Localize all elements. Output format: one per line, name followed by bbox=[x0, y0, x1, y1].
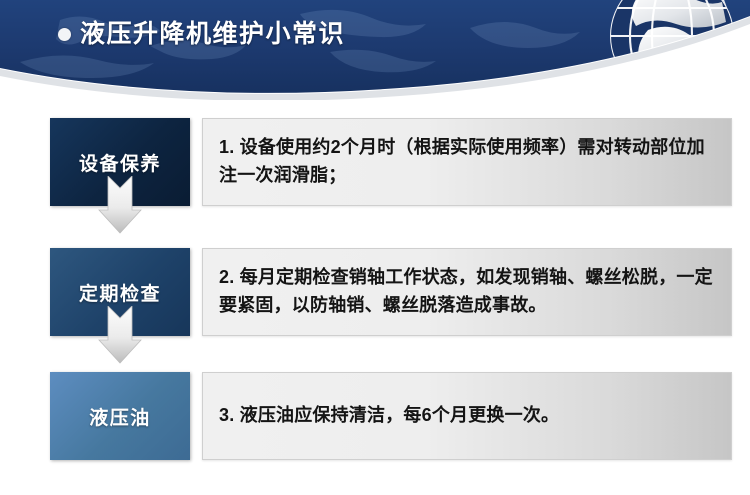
step-text-panel-3: 3. 液压油应保持清洁，每6个月更换一次。 bbox=[202, 372, 732, 460]
step-label-text-3: 液压油 bbox=[89, 403, 151, 430]
page-title: 液压升降机维护小常识 bbox=[58, 22, 345, 47]
step-text-1: 1. 设备使用约2个月时（根据实际使用频率）需对转动部位加注一次润滑脂； bbox=[219, 134, 717, 190]
header-background bbox=[0, 0, 750, 100]
step-text-2: 2. 每月定期检查销轴工作状态，如发现销轴、螺丝松脱，一定要紧固，以防轴销、螺丝… bbox=[219, 264, 717, 320]
step-label-text-1: 设备保养 bbox=[79, 149, 161, 176]
step-text-panel-1: 1. 设备使用约2个月时（根据实际使用频率）需对转动部位加注一次润滑脂； bbox=[202, 118, 732, 206]
step-label-box-3[interactable]: 液压油 bbox=[50, 372, 190, 460]
step-text-panel-2: 2. 每月定期检查销轴工作状态，如发现销轴、螺丝松脱，一定要紧固，以防轴销、螺丝… bbox=[202, 248, 732, 336]
step-text-3: 3. 液压油应保持清洁，每6个月更换一次。 bbox=[219, 402, 559, 430]
down-arrow-icon bbox=[98, 176, 142, 234]
page-title-text: 液压升降机维护小常识 bbox=[80, 22, 345, 47]
step-label-text-2: 定期检查 bbox=[79, 279, 161, 306]
maintenance-flow: 设备保养 1. 设备使用约2个月时（根据实际使用频率）需对转动部位加注一次润滑脂… bbox=[0, 100, 750, 495]
page-header: 液压升降机维护小常识 bbox=[0, 0, 750, 100]
bullet-icon bbox=[58, 28, 71, 41]
down-arrow-icon bbox=[98, 306, 142, 364]
